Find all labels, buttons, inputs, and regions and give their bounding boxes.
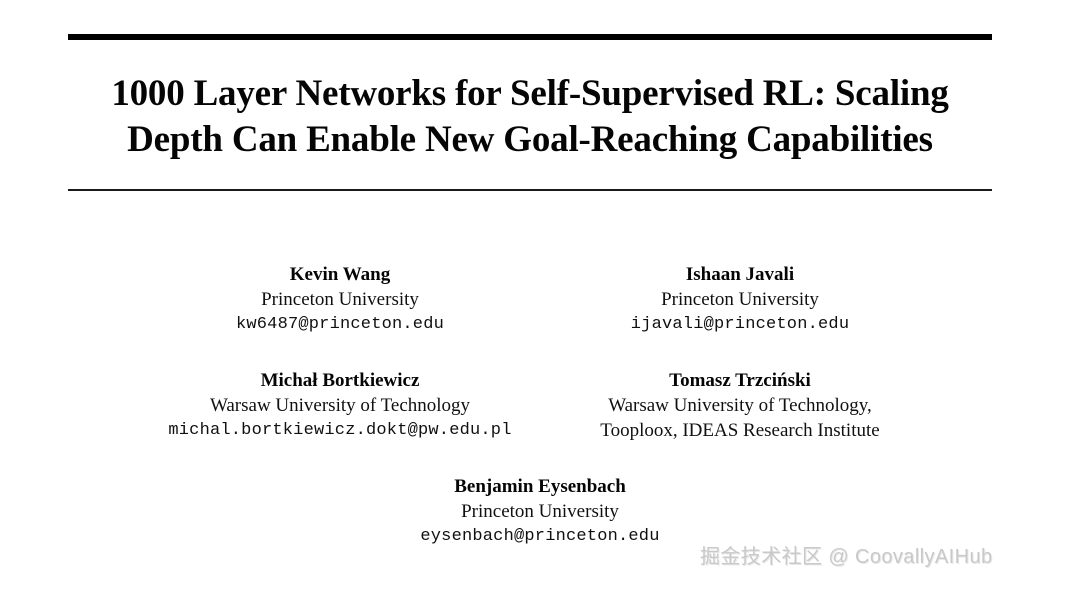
paper-page: 1000 Layer Networks for Self-Supervised … [0,0,1080,592]
title-line-2: Depth Can Enable New Goal-Reaching Capab… [68,117,992,163]
author-affiliation: Princeton University [340,499,740,524]
author-name: Benjamin Eysenbach [340,474,740,499]
author-name: Ishaan Javali [540,262,940,287]
author-affiliation: Princeton University [540,287,940,312]
author-email[interactable]: kw6487@princeton.edu [140,312,540,337]
author-email[interactable]: eysenbach@princeton.edu [340,524,740,549]
author-email[interactable]: michal.bortkiewicz.dokt@pw.edu.pl [140,418,540,443]
title-line-1: 1000 Layer Networks for Self-Supervised … [68,71,992,117]
author-affiliation: Warsaw University of Technology [140,393,540,418]
author-name: Michał Bortkiewicz [140,368,540,393]
title-bottom-rule [68,189,992,191]
author-email[interactable]: ijavali@princeton.edu [540,312,940,337]
author-block-michal-bortkiewicz: Michał Bortkiewicz Warsaw University of … [140,368,540,443]
title-block: 1000 Layer Networks for Self-Supervised … [68,34,992,191]
author-row-3: Benjamin Eysenbach Princeton University … [0,474,1080,549]
author-affiliation-line-2: Tooploox, IDEAS Research Institute [540,418,940,443]
author-affiliation: Princeton University [140,287,540,312]
author-block-tomasz-trzcinski: Tomasz Trzciński Warsaw University of Te… [540,368,940,443]
author-name: Tomasz Trzciński [540,368,940,393]
author-affiliation: Warsaw University of Technology, [540,393,940,418]
author-block-kevin-wang: Kevin Wang Princeton University kw6487@p… [140,262,540,337]
author-block-ishaan-javali: Ishaan Javali Princeton University ijava… [540,262,940,337]
author-row-2: Michał Bortkiewicz Warsaw University of … [0,368,1080,443]
page-title: 1000 Layer Networks for Self-Supervised … [68,40,992,189]
author-list: Kevin Wang Princeton University kw6487@p… [0,262,1080,549]
author-block-benjamin-eysenbach: Benjamin Eysenbach Princeton University … [340,474,740,549]
author-name: Kevin Wang [140,262,540,287]
author-row-1: Kevin Wang Princeton University kw6487@p… [0,262,1080,337]
